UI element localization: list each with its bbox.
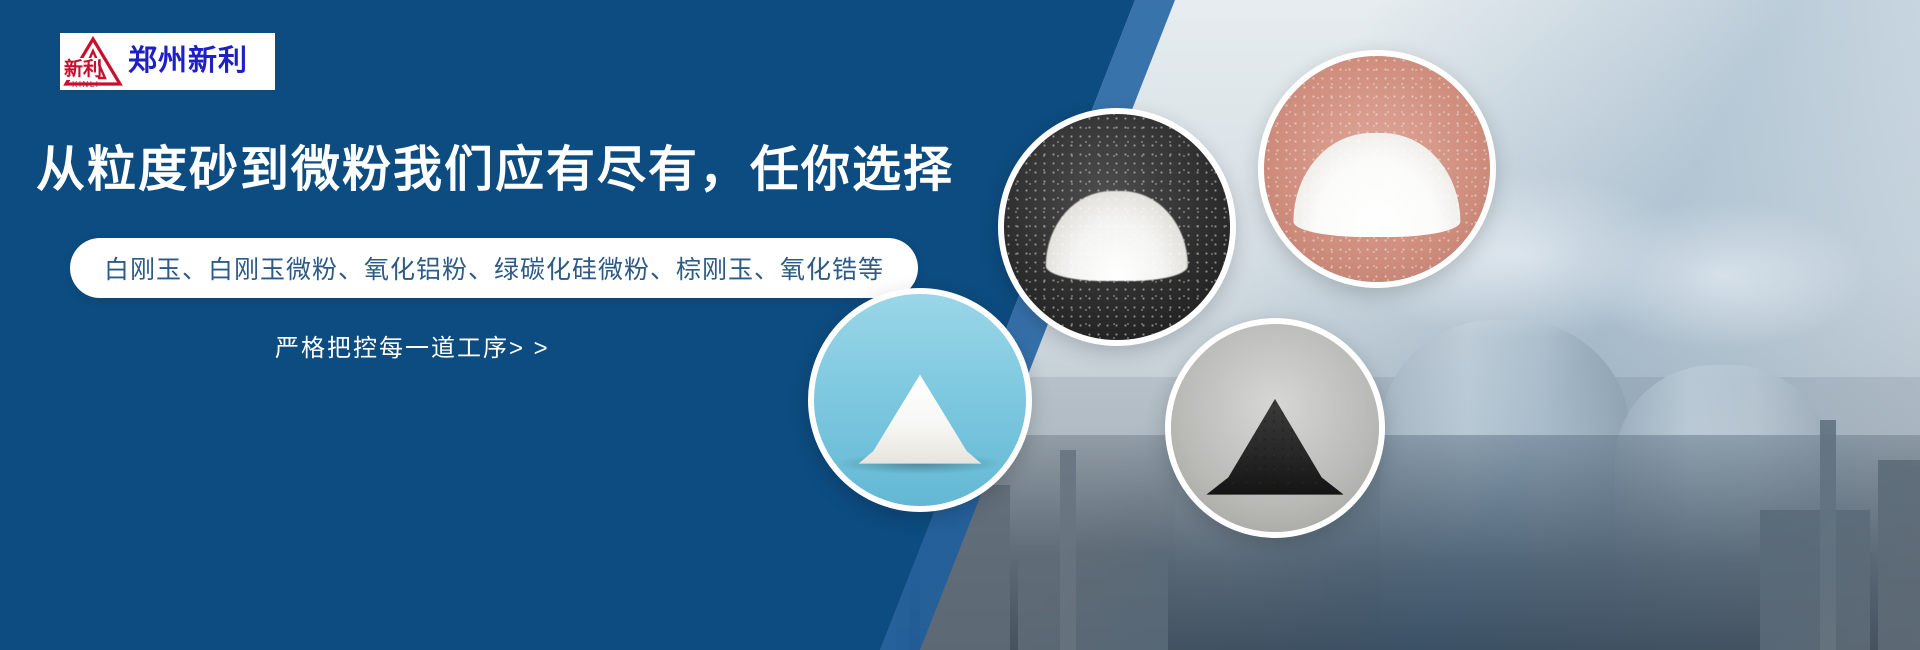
product-list-pill: 白刚玉、白刚玉微粉、氧化铝粉、绿碳化硅微粉、棕刚玉、氧化锆等 — [70, 238, 918, 298]
product-list-text: 白刚玉、白刚玉微粉、氧化铝粉、绿碳化硅微粉、棕刚玉、氧化锆等 — [104, 250, 884, 286]
xinli-triangle-icon: 新利 XINLI — [60, 34, 126, 89]
product-photo-black-silicon-carbide-grain — [1165, 318, 1385, 538]
tagline-link[interactable]: 严格把控每一道工序> > — [275, 328, 550, 363]
product-photo-white-alumina-micropowder — [1258, 50, 1496, 288]
logo-text: 郑州新利 — [126, 47, 248, 76]
svg-text:新利: 新利 — [64, 57, 102, 80]
company-logo[interactable]: 新利 XINLI 郑州新利 — [60, 33, 275, 90]
svg-text:XINLI: XINLI — [72, 80, 100, 89]
grain-texture — [1004, 114, 1230, 340]
grain-texture — [1264, 56, 1490, 282]
promo-banner: 新利 XINLI 郑州新利 从粒度砂到微粉我们应有尽有，任你选择 白刚玉、白刚玉… — [0, 0, 1920, 650]
product-photo-alumina-powder-cone — [808, 288, 1032, 512]
product-photo-white-fused-alumina-grain — [998, 108, 1236, 346]
page-title: 从粒度砂到微粉我们应有尽有，任你选择 — [36, 142, 996, 198]
